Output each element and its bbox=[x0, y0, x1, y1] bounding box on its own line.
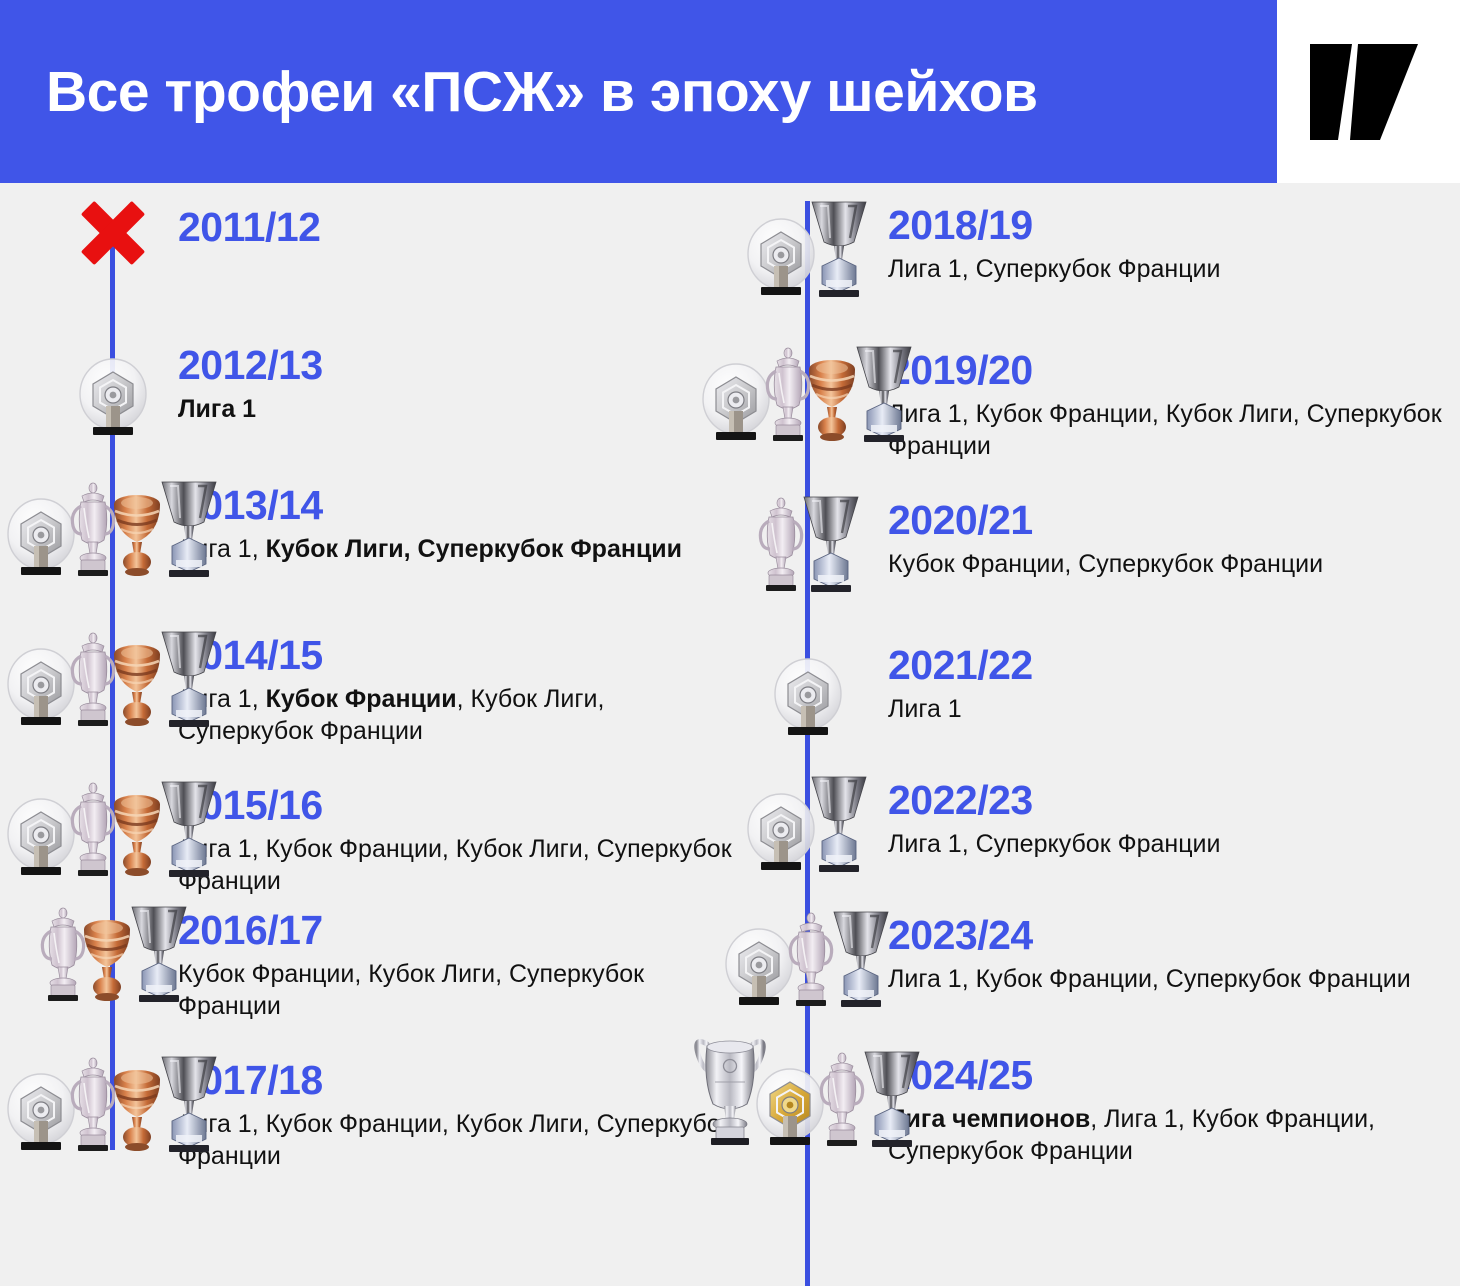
trophee-des-champions-icon bbox=[806, 771, 872, 878]
timeline-board: 2011/12 2012/13Лига 1 bbox=[0, 183, 1460, 1248]
season-entry: 2014/15Лига 1, Кубок Франции, Кубок Лиги… bbox=[178, 635, 738, 747]
season-trophy-list: Лига чемпионов, Лига 1, Кубок Франции, С… bbox=[888, 1103, 1458, 1167]
trophy-name: Лига 1, Суперкубок Франции bbox=[888, 830, 1220, 858]
season-trophy-list: Лига 1 bbox=[888, 693, 1458, 725]
season-entry: 2015/16Лига 1, Кубок Франции, Кубок Лиги… bbox=[178, 785, 738, 897]
trophy-group bbox=[705, 193, 910, 303]
trophy-group bbox=[705, 1043, 910, 1153]
season-trophy-list: Кубок Франции, Суперкубок Франции bbox=[888, 548, 1458, 580]
season-year: 2020/21 bbox=[888, 500, 1458, 541]
season-year: 2015/16 bbox=[178, 785, 738, 826]
trophee-des-champions-icon bbox=[156, 476, 222, 583]
header-band: Все трофеи «ПСЖ» в эпоху шейхов bbox=[0, 0, 1277, 183]
trophy-name: Лига 1, Кубок Франции, Суперкубок Франци… bbox=[888, 965, 1411, 993]
no-trophy-cross-marker bbox=[10, 193, 215, 273]
trophee-des-champions-icon bbox=[806, 196, 872, 303]
season-trophy-list: Лига 1, Кубок Франции, Кубок Лиги, Супер… bbox=[178, 1108, 738, 1172]
season-year: 2016/17 bbox=[178, 910, 738, 951]
season-year: 2011/12 bbox=[178, 207, 738, 248]
ligue1-trophy-icon bbox=[771, 656, 845, 738]
page-title: Все трофеи «ПСЖ» в эпоху шейхов bbox=[0, 59, 1038, 125]
season-entry: 2024/25Лига чемпионов, Лига 1, Кубок Фра… bbox=[888, 1055, 1458, 1167]
trophy-name: Лига 1, Кубок Франции, Кубок Лиги, Супер… bbox=[178, 835, 732, 895]
ligue1-disc-icon bbox=[771, 656, 845, 743]
season-trophy-list: Лига 1, Кубок Франции, Кубок Лиги, Супер… bbox=[888, 398, 1458, 462]
season-entry: 2011/12 bbox=[178, 207, 738, 248]
trophee-des-champions-trophy-icon bbox=[156, 776, 222, 878]
trophy-name: Лига 1, Кубок Франции, Кубок Лиги, Супер… bbox=[888, 400, 1442, 460]
trophee-des-champions-trophy-icon bbox=[859, 1046, 925, 1148]
trophee-des-champions-icon bbox=[828, 906, 894, 1013]
season-trophy-list: Лига 1, Суперкубок Франции bbox=[888, 828, 1458, 860]
season-year: 2021/22 bbox=[888, 645, 1458, 686]
season-year: 2024/25 bbox=[888, 1055, 1458, 1096]
trophee-des-champions-trophy-icon bbox=[806, 196, 872, 298]
season-year: 2022/23 bbox=[888, 780, 1458, 821]
trophee-des-champions-trophy-icon bbox=[806, 771, 872, 873]
season-trophy-list: Лига 1, Кубок Франции, Суперкубок Франци… bbox=[888, 963, 1458, 995]
timeline-column-left: 2011/12 2012/13Лига 1 bbox=[0, 183, 730, 1248]
trophee-des-champions-icon bbox=[798, 491, 864, 598]
trophy-group bbox=[10, 1048, 215, 1158]
season-year: 2018/19 bbox=[888, 205, 1458, 246]
trophee-des-champions-trophy-icon bbox=[851, 341, 917, 443]
season-entry: 2021/22Лига 1 bbox=[888, 645, 1458, 725]
ligue1-trophy-icon bbox=[76, 356, 150, 438]
trophee-des-champions-icon bbox=[126, 901, 192, 1008]
trophy-group bbox=[10, 623, 215, 733]
trophee-des-champions-icon bbox=[156, 776, 222, 883]
season-entry: 2018/19Лига 1, Суперкубок Франции bbox=[888, 205, 1458, 285]
season-year: 2014/15 bbox=[178, 635, 738, 676]
trophy-name: Лига 1, Кубок Франции, Кубок Лиги, Супер… bbox=[178, 1110, 732, 1170]
trophy-name-highlighted: Кубок Лиги, Суперкубок Франции bbox=[266, 535, 682, 563]
trophy-name: Кубок Франции, Кубок Лиги, Суперкубок Фр… bbox=[178, 960, 644, 1020]
trophy-group bbox=[705, 633, 910, 743]
season-year: 2017/18 bbox=[178, 1060, 738, 1101]
trophee-des-champions-trophy-icon bbox=[126, 901, 192, 1003]
season-entry: 2020/21Кубок Франции, Суперкубок Франции bbox=[888, 500, 1458, 580]
season-entry: 2019/20Лига 1, Кубок Франции, Кубок Лиги… bbox=[888, 350, 1458, 462]
season-entry: 2023/24Лига 1, Кубок Франции, Суперкубок… bbox=[888, 915, 1458, 995]
trophy-name: Кубок Франции, Суперкубок Франции bbox=[888, 550, 1323, 578]
trophee-des-champions-trophy-icon bbox=[156, 626, 222, 728]
trophy-group bbox=[10, 473, 215, 583]
trophy-group bbox=[10, 898, 215, 1008]
trophee-des-champions-icon bbox=[156, 1051, 222, 1158]
season-entry: 2016/17Кубок Франции, Кубок Лиги, Суперк… bbox=[178, 910, 738, 1022]
timeline-column-right: 2018/19Лига 1, Суперкубок Франции bbox=[660, 183, 1460, 1248]
trophee-des-champions-trophy-icon bbox=[828, 906, 894, 1008]
season-entry: 2017/18Лига 1, Кубок Франции, Кубок Лиги… bbox=[178, 1060, 738, 1172]
season-year: 2023/24 bbox=[888, 915, 1458, 956]
trophee-des-champions-icon bbox=[156, 626, 222, 733]
trophy-group bbox=[705, 903, 910, 1013]
trophee-des-champions-trophy-icon bbox=[798, 491, 864, 593]
cross-icon bbox=[76, 196, 150, 270]
sports-ru-logo bbox=[1308, 42, 1420, 142]
trophee-des-champions-icon bbox=[851, 341, 917, 448]
season-entry: 2022/23Лига 1, Суперкубок Франции bbox=[888, 780, 1458, 860]
season-year: 2013/14 bbox=[178, 485, 738, 526]
trophy-name: Лига 1, Суперкубок Франции bbox=[888, 255, 1220, 283]
season-year: 2012/13 bbox=[178, 345, 738, 386]
season-year: 2019/20 bbox=[888, 350, 1458, 391]
season-trophy-list: Лига 1, Кубок Франции, Кубок Лиги, Супер… bbox=[178, 833, 738, 897]
trophee-des-champions-trophy-icon bbox=[156, 476, 222, 578]
trophy-group bbox=[705, 768, 910, 878]
trophee-des-champions-trophy-icon bbox=[156, 1051, 222, 1153]
trophee-des-champions-icon bbox=[859, 1046, 925, 1153]
trophy-group bbox=[705, 338, 910, 448]
trophy-group bbox=[10, 333, 215, 443]
ligue1-disc-icon bbox=[76, 356, 150, 443]
trophy-group bbox=[10, 773, 215, 883]
season-entry: 2012/13Лига 1 bbox=[178, 345, 738, 425]
season-trophy-list: Лига 1, Суперкубок Франции bbox=[888, 253, 1458, 285]
season-trophy-list: Лига 1, Кубок Франции, Кубок Лиги, Супер… bbox=[178, 683, 738, 747]
season-entry: 2013/14Лига 1, Кубок Лиги, Суперкубок Фр… bbox=[178, 485, 738, 565]
header: Все трофеи «ПСЖ» в эпоху шейхов bbox=[0, 0, 1460, 183]
season-trophy-list: Лига 1, Кубок Лиги, Суперкубок Франции bbox=[178, 533, 738, 565]
season-trophy-list: Лига 1 bbox=[178, 393, 738, 425]
trophy-name-highlighted: Кубок Франции bbox=[266, 685, 457, 713]
season-trophy-list: Кубок Франции, Кубок Лиги, Суперкубок Фр… bbox=[178, 958, 738, 1022]
trophy-group bbox=[705, 488, 910, 598]
